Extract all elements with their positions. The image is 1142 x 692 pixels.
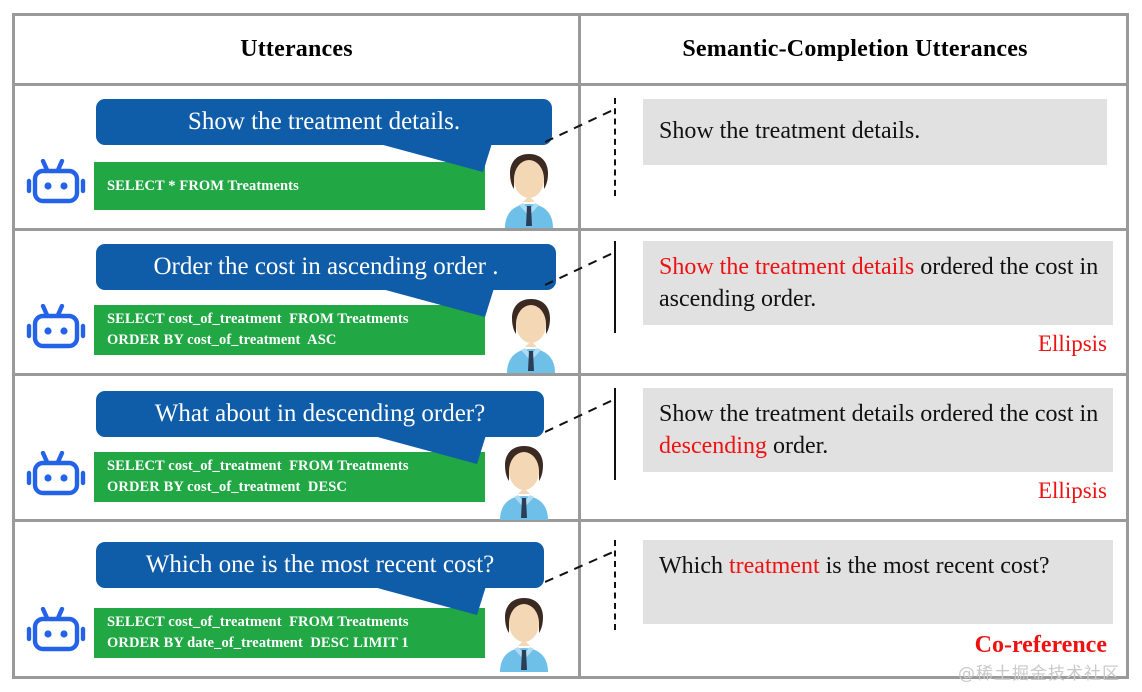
completion-highlight: treatment: [729, 553, 820, 579]
completion-text-box: Which treatment is the most recent cost?: [643, 540, 1113, 624]
row-2-completion-cell: Show the treatment details ordered the c…: [581, 231, 1129, 373]
watermark: @稀土掘金技术社区: [958, 659, 1120, 684]
bubble-tail-icon: [359, 432, 489, 466]
table-row: Which one is the most recent cost? SELEC…: [15, 522, 1126, 679]
completion-text: Which: [659, 553, 729, 579]
row-1-utterance-cell: Show the treatment details. SELECT * FRO…: [15, 86, 578, 228]
table-row: Show the treatment details. SELECT * FRO…: [15, 86, 1126, 228]
row-4-vertical-bar: [614, 540, 616, 630]
robot-icon: [25, 304, 87, 358]
robot-icon: [25, 451, 87, 505]
user-avatar-icon: [488, 592, 560, 672]
status-badge: Ellipsis: [1038, 478, 1107, 504]
completion-text-box: Show the treatment details ordered the c…: [643, 241, 1113, 325]
utterance-text: Show the treatment details.: [188, 108, 460, 136]
sql-line: ORDER BY cost_of_treatment ASC: [107, 330, 485, 351]
user-avatar-icon: [495, 293, 567, 373]
completion-text-box: Show the treatment details ordered the c…: [643, 388, 1113, 472]
user-utterance-bubble: Which one is the most recent cost?: [96, 542, 544, 588]
sql-line: SELECT * FROM Treatments: [107, 176, 485, 197]
row-3-vertical-bar: [614, 388, 616, 480]
status-badge: Ellipsis: [1038, 331, 1107, 357]
user-avatar-icon: [493, 148, 565, 228]
user-utterance-bubble: What about in descending order?: [96, 391, 544, 437]
row-1-completion-cell: Show the treatment details.: [581, 86, 1129, 228]
table-row: Order the cost in ascending order . SELE…: [15, 231, 1126, 373]
completion-text: Show the treatment details ordered the c…: [659, 401, 1098, 427]
row-3-completion-cell: Show the treatment details ordered the c…: [581, 376, 1129, 519]
sql-line: ORDER BY cost_of_treatment DESC: [107, 477, 485, 498]
sql-line: ORDER BY date_of_treatment DESC LIMIT 1: [107, 633, 485, 654]
user-avatar-icon: [488, 440, 560, 520]
utterance-text: Order the cost in ascending order .: [153, 253, 498, 281]
completion-highlight: Show the treatment details: [659, 254, 914, 280]
completion-highlight: descending: [659, 433, 767, 459]
table-row: What about in descending order? SELECT c…: [15, 376, 1126, 519]
comparison-table: Utterances Semantic-Completion Utterance…: [12, 13, 1129, 679]
bubble-tail-icon: [359, 583, 489, 617]
user-utterance-bubble: Show the treatment details.: [96, 99, 552, 145]
completion-text: Show the treatment details.: [659, 116, 920, 148]
row-2-utterance-cell: Order the cost in ascending order . SELE…: [15, 231, 578, 373]
robot-icon: [25, 607, 87, 661]
completion-text-suffix: order.: [767, 433, 828, 459]
completion-text-box: Show the treatment details.: [643, 99, 1107, 165]
bubble-tail-icon: [365, 140, 495, 174]
utterance-text: What about in descending order?: [155, 400, 485, 428]
row-4-completion-cell: Which treatment is the most recent cost?…: [581, 522, 1129, 679]
user-utterance-bubble: Order the cost in ascending order .: [96, 244, 556, 290]
header-semantic-completion: Semantic-Completion Utterances: [581, 16, 1129, 83]
robot-icon: [25, 159, 87, 213]
completion-text-suffix: is the most recent cost?: [820, 553, 1050, 579]
header-semantic-completion-label: Semantic-Completion Utterances: [682, 36, 1027, 63]
row-1-vertical-bar: [614, 98, 616, 196]
bubble-tail-icon: [367, 285, 497, 319]
status-badge: Co-reference: [975, 632, 1107, 659]
row-4-utterance-cell: Which one is the most recent cost? SELEC…: [15, 522, 578, 679]
header-utterances-label: Utterances: [240, 36, 353, 63]
utterance-text: Which one is the most recent cost?: [146, 551, 495, 579]
row-2-vertical-bar: [614, 241, 616, 333]
header-utterances: Utterances: [15, 16, 578, 83]
semantic-completion-figure: Utterances Semantic-Completion Utterance…: [0, 0, 1142, 692]
row-3-utterance-cell: What about in descending order? SELECT c…: [15, 376, 578, 519]
